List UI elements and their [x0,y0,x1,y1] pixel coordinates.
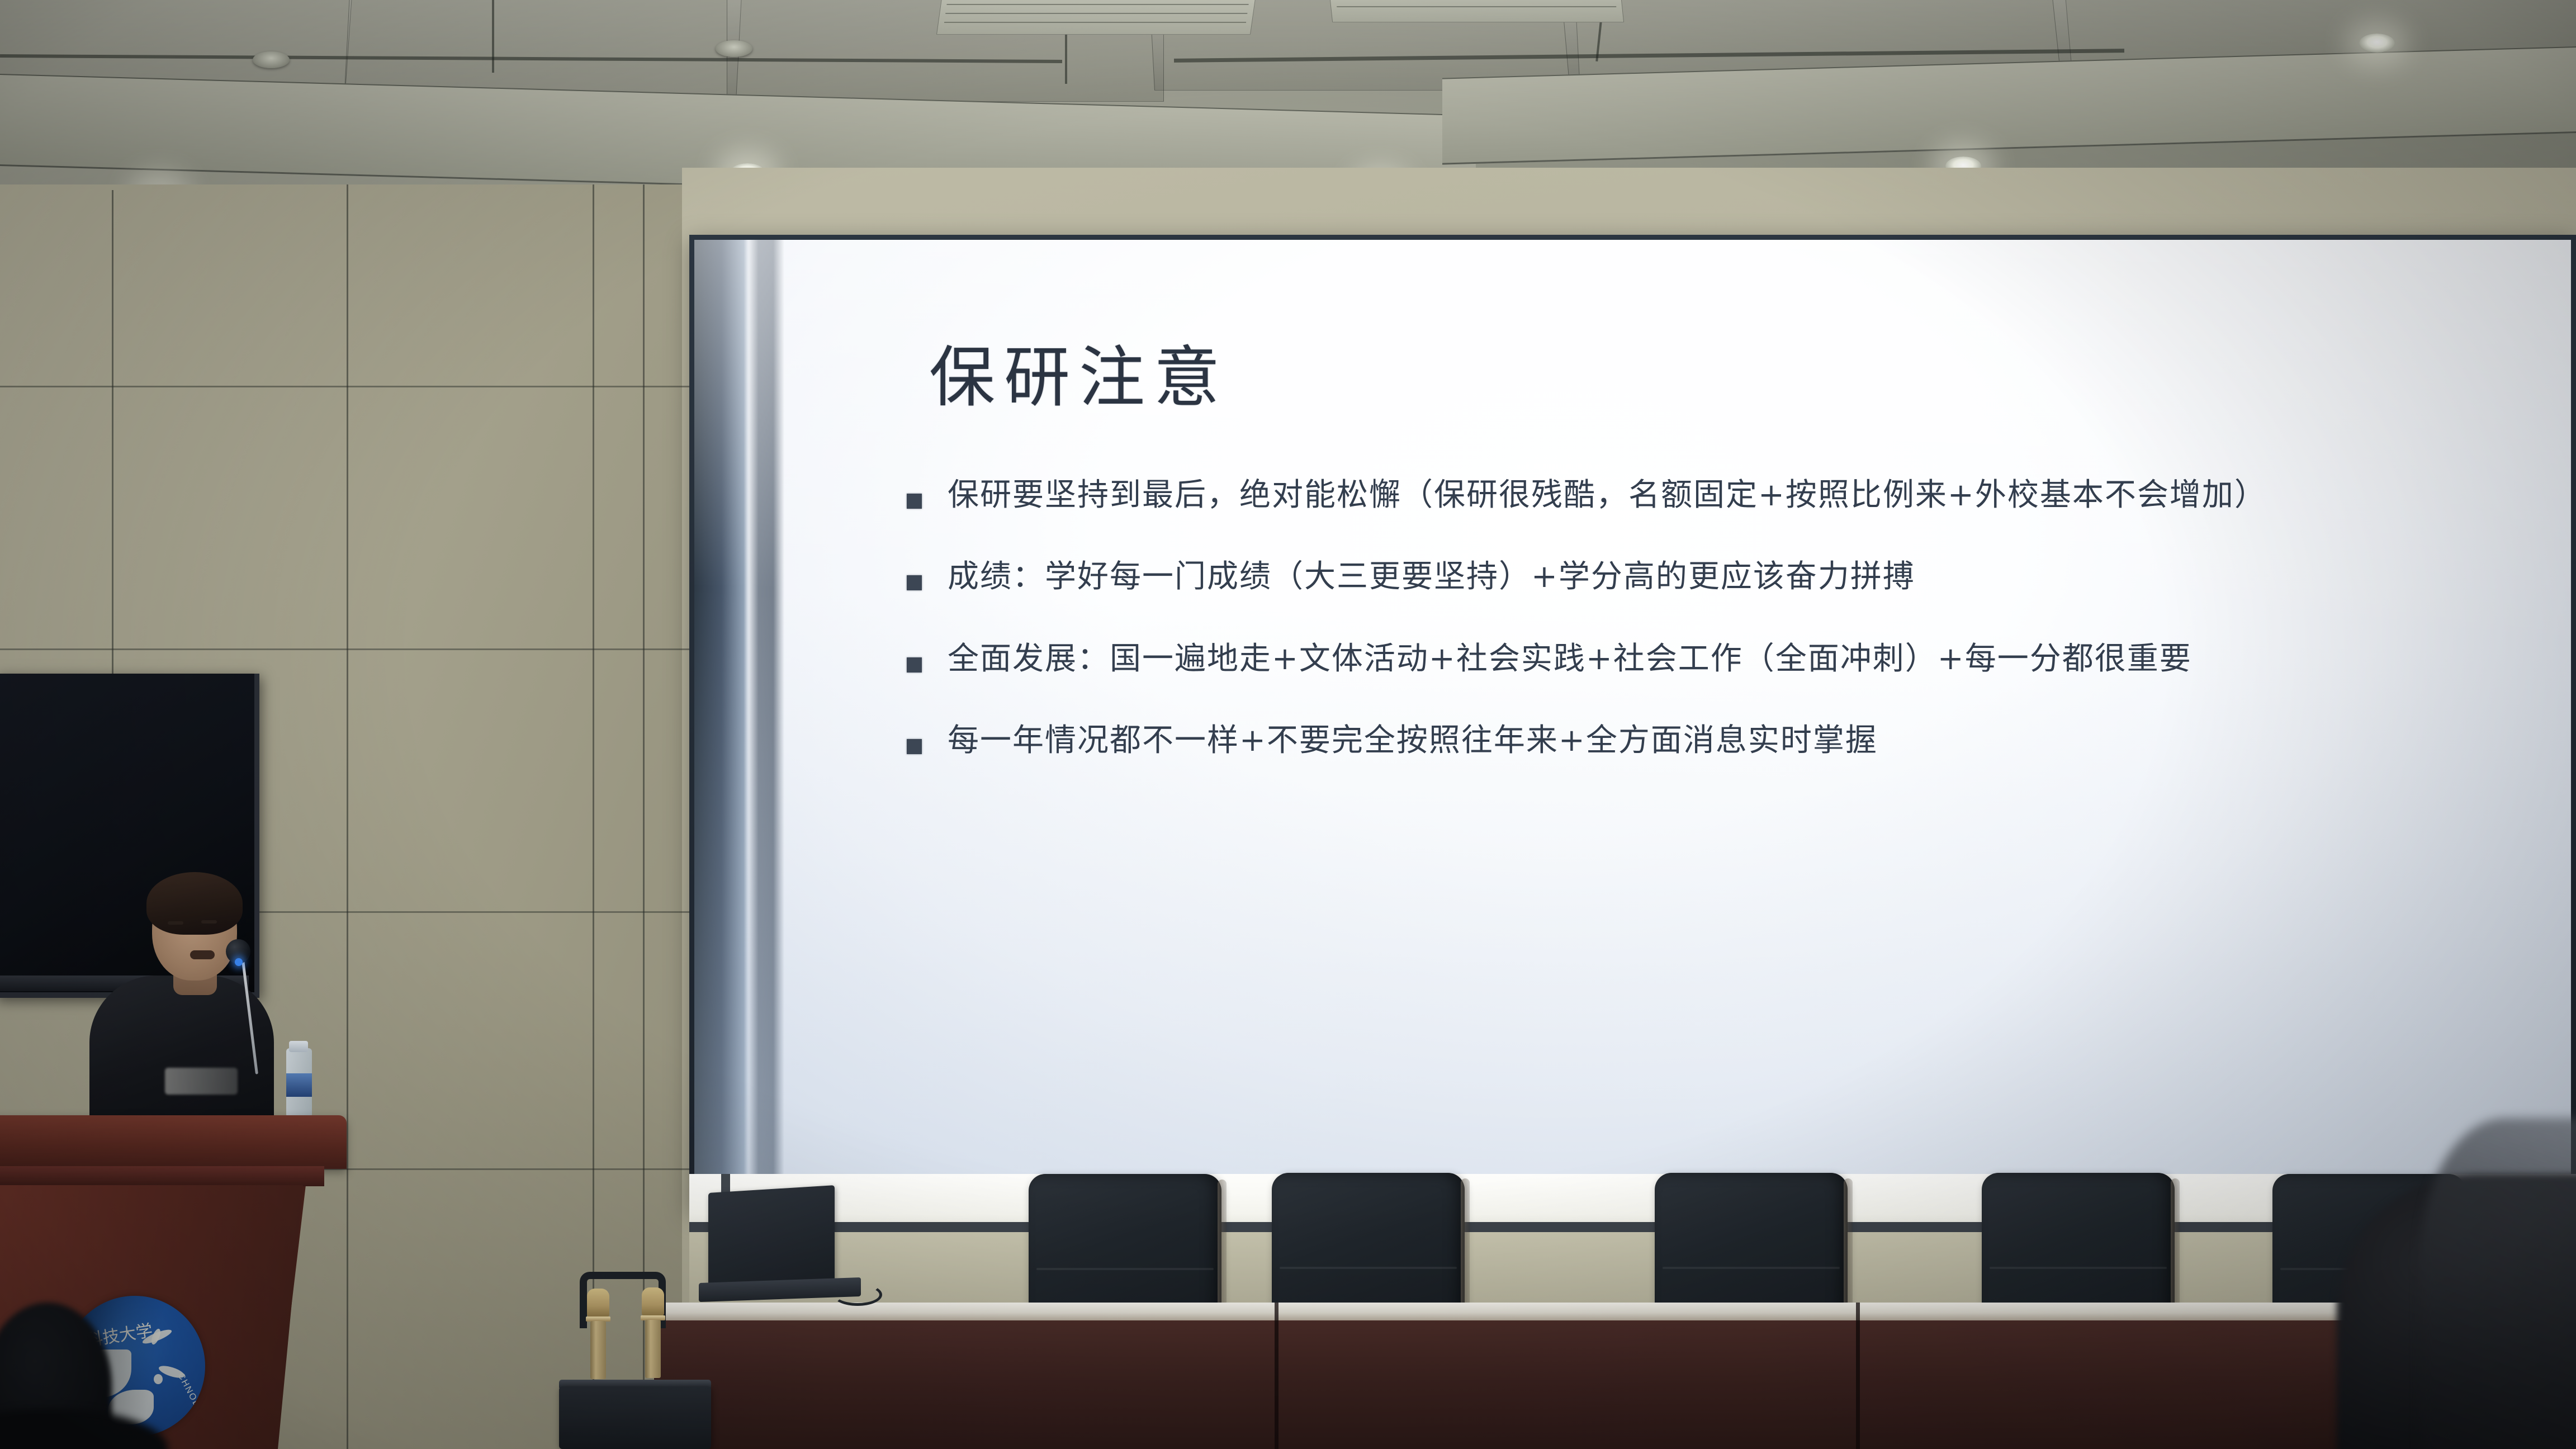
conference-chair [1655,1173,1848,1324]
lecture-hall-scene: 保研注意 保研要坚持到最后，绝对能松懈（保研很残酷，名额固定+按照比例来+外校基… [0,0,2576,1449]
list-item: 全面发展：国一遍地走+文体活动+社会实践+社会工作（全面冲刺）+每一分都很重要 [907,638,2511,680]
wall-tile-seam [593,184,594,1449]
ceiling-seam [492,0,494,73]
podium-lip [0,1166,324,1186]
conference-chair [1272,1173,1465,1324]
table-panel-seam [1275,1303,1278,1449]
conference-table-top [654,1303,2576,1323]
pa-speaker[interactable] [559,1386,711,1449]
bullet-text: 成绩：学好每一门成绩（大三更要坚持）+学分高的更应该奋力拼搏 [948,556,1915,598]
ceiling-downlight [2359,34,2395,53]
bullet-square-icon [907,739,922,754]
smoke-detector-icon [253,51,290,68]
vent-slat [1337,6,1616,7]
wall-tile-seam [347,184,348,1449]
presenter-hair [146,872,243,935]
vent-slat [946,4,1248,5]
presenter-mouth [190,950,215,959]
presenter-eye [168,921,183,925]
bullet-square-icon [907,494,922,509]
ceiling-vent [936,0,1256,35]
audience-silhouette [2421,1118,2576,1449]
slide-content: 保研注意 保研要坚持到最后，绝对能松懈（保研很残酷，名额固定+按照比例来+外校基… [694,240,2571,1205]
presenter-eye [201,920,217,924]
bullet-text: 保研要坚持到最后，绝对能松懈（保研很残酷，名额固定+按照比例来+外校基本不会增加… [948,475,2267,516]
smoke-detector-icon [716,40,752,57]
microphone-body [645,1320,661,1378]
handheld-microphone[interactable] [642,1287,664,1377]
microphone-grille [587,1289,609,1318]
microphone-body [590,1321,606,1379]
bullet-text: 全面发展：国一遍地走+文体活动+社会实践+社会工作（全面冲刺）+每一分都很重要 [948,638,2192,680]
table-panel-seam [1856,1303,1860,1449]
chair-frame [1844,1178,1853,1318]
ceiling-vent [1329,0,1624,22]
bullet-square-icon [907,575,922,590]
water-bottle-label [286,1073,312,1097]
conference-chair [1982,1173,2175,1324]
chair-frame [1461,1178,1470,1318]
wall-tile-seam [0,386,693,387]
wall-tile-seam [643,184,645,1449]
chair-frame [1218,1180,1227,1319]
vent-slat [945,13,1247,14]
laptop-screen [708,1185,835,1289]
wall-tile-seam [0,648,693,650]
bullet-text: 每一年情况都不一样+不要完全按照往年来+全方面消息实时掌握 [948,720,1878,761]
microphone-grille [642,1287,664,1317]
bullet-square-icon [907,657,922,673]
slide-title: 保研注意 [929,324,1229,419]
podium-top [0,1115,347,1169]
conference-table-front [654,1320,2576,1449]
list-item: 成绩：学好每一门成绩（大三更要坚持）+学分高的更应该奋力拼搏 [907,556,2511,598]
vent-slat [944,22,1246,23]
list-item: 保研要坚持到最后，绝对能松懈（保研很残酷，名额固定+按照比例来+外校基本不会增加… [907,475,2511,516]
list-item: 每一年情况都不一样+不要完全按照往年来+全方面消息实时掌握 [907,720,2511,761]
slide-bullet-list: 保研要坚持到最后，绝对能松懈（保研很残酷，名额固定+按照比例来+外校基本不会增加… [907,475,2511,802]
water-bottle-cap [289,1041,308,1052]
handheld-microphone[interactable] [587,1289,609,1378]
tshirt-graphic [165,1068,238,1095]
mic-status-led-icon [235,958,243,966]
chair-frame [2171,1178,2180,1318]
laptop-cable [833,1284,882,1306]
